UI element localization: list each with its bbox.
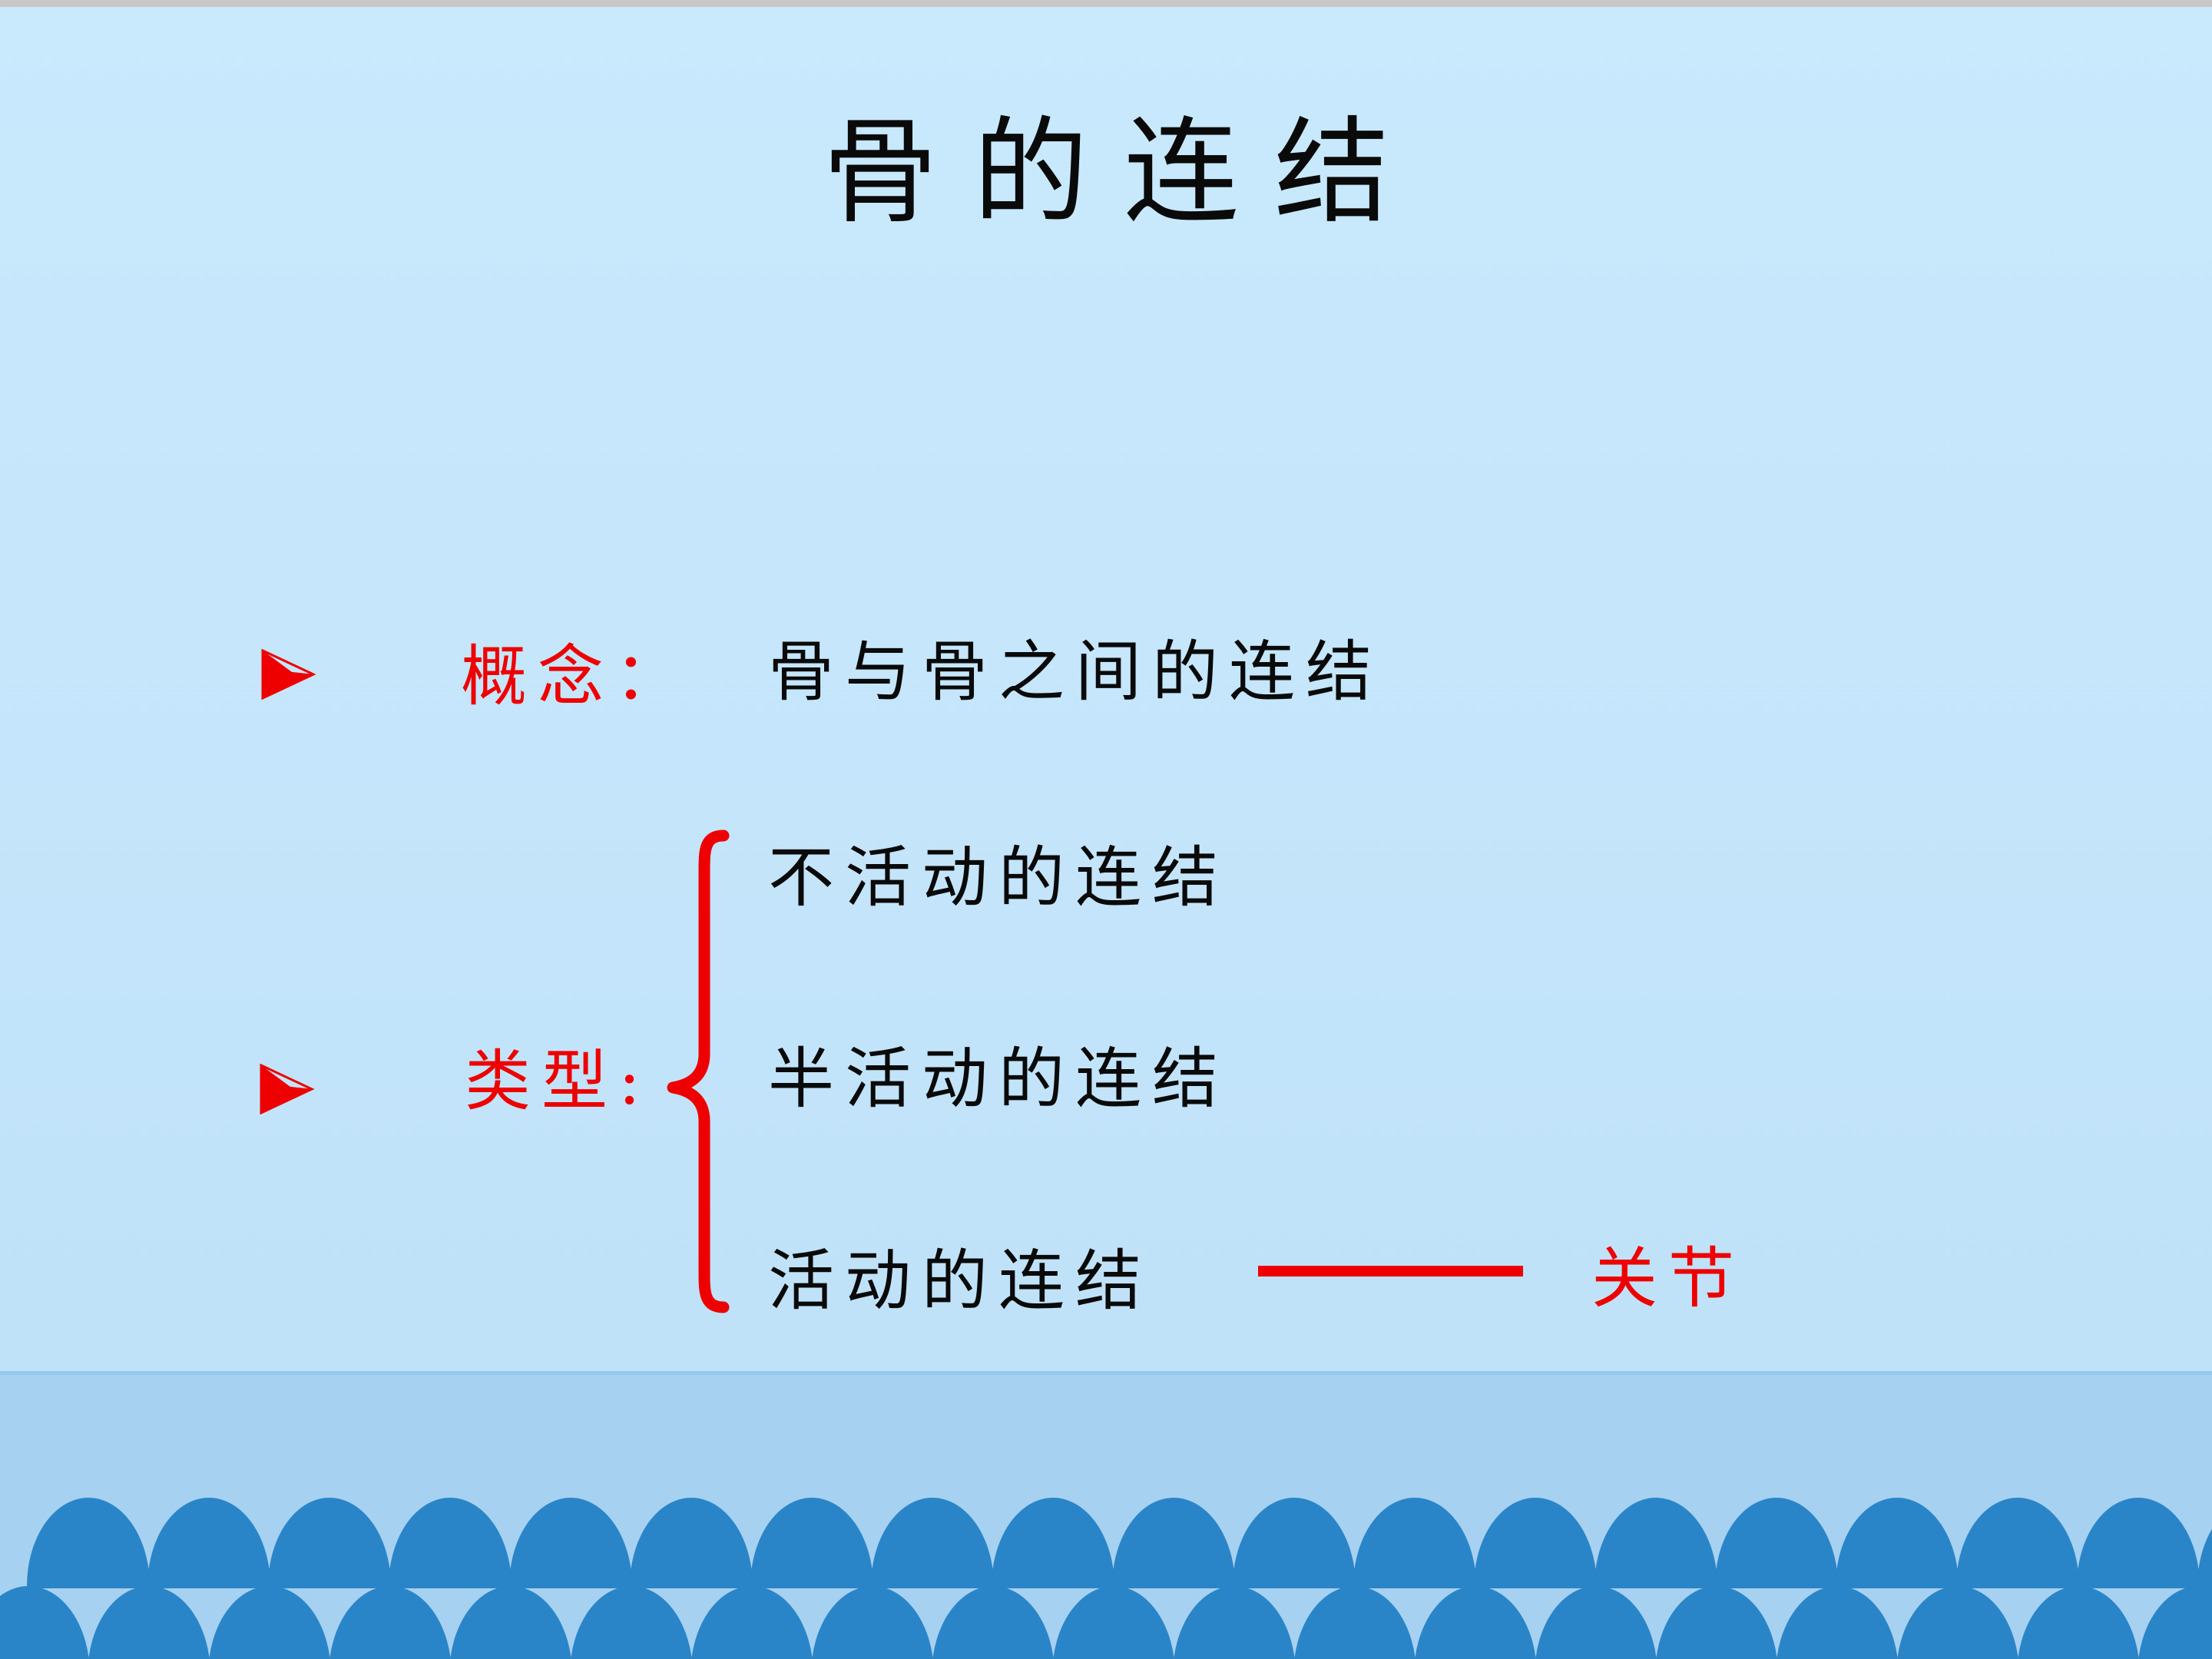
scallop-shape	[389, 1498, 512, 1588]
scallop-shape	[509, 1498, 632, 1588]
scallop-shape	[1535, 1586, 1657, 1659]
scallop-shape	[329, 1586, 452, 1659]
scallop-shape	[992, 1498, 1114, 1588]
scallop-shape	[630, 1498, 753, 1588]
type-item-2: 半活动的连结	[768, 1046, 1229, 1112]
curly-brace-icon	[661, 829, 745, 1321]
scallop-row-lower	[0, 1586, 2212, 1659]
type-item-1: 不活动的连结	[768, 845, 1229, 911]
arrow-bullet-icon	[260, 1064, 315, 1114]
scallop-shape	[1655, 1586, 1778, 1659]
scallop-shape	[27, 1498, 150, 1588]
scallop-shape	[2077, 1498, 2200, 1588]
scallop-shape	[811, 1586, 934, 1659]
scallop-shape	[1173, 1586, 1296, 1659]
scallop-shape	[0, 1586, 90, 1659]
scallop-shape	[1353, 1498, 1476, 1588]
scallop-shape	[1414, 1586, 1537, 1659]
scallop-shape	[147, 1498, 270, 1588]
type-label: 类型:	[465, 1048, 651, 1114]
scallop-shape	[2017, 1586, 2140, 1659]
scallop-shape	[1293, 1586, 1416, 1659]
scallop-shape	[208, 1586, 331, 1659]
scallop-shape	[2197, 1498, 2212, 1588]
top-grey-strip	[0, 0, 2212, 7]
arrow-bullet-icon	[261, 649, 316, 700]
red-horizontal-rule	[1258, 1266, 1523, 1277]
scallop-shape	[2137, 1586, 2212, 1659]
scallop-shape	[88, 1586, 210, 1659]
scallop-shape	[1715, 1498, 1838, 1588]
type-item-3: 活动的连结	[768, 1248, 1152, 1314]
scallop-row-upper	[0, 1498, 2212, 1588]
scallop-shape	[690, 1586, 813, 1659]
scallop-shape	[871, 1498, 994, 1588]
scallop-shape	[1474, 1498, 1597, 1588]
band-top-edge	[0, 1371, 2212, 1375]
scallop-shape	[1896, 1586, 2019, 1659]
scallop-shape	[1052, 1586, 1175, 1659]
scallop-shape	[570, 1586, 693, 1659]
concept-label: 概念：	[461, 644, 691, 710]
scallop-shape	[268, 1498, 391, 1588]
page-title: 骨的连结	[0, 115, 2212, 230]
scallop-shape	[1836, 1498, 1959, 1588]
concept-value: 骨与骨之间的连结	[768, 639, 1382, 705]
scallop-shape	[1112, 1498, 1235, 1588]
scallop-shape	[1594, 1498, 1717, 1588]
scallop-shape	[449, 1586, 572, 1659]
scallop-shape	[932, 1586, 1055, 1659]
scallop-shape	[1956, 1498, 2079, 1588]
joint-result-label: 关节	[1591, 1246, 1745, 1312]
scallop-shape	[1776, 1586, 1899, 1659]
slide-canvas: 骨的连结 概念： 骨与骨之间的连结 类型: 不活动的连结 半活动的连结 活动的连…	[0, 0, 2212, 1659]
scallop-shape	[1233, 1498, 1356, 1588]
scallop-shape	[750, 1498, 873, 1588]
